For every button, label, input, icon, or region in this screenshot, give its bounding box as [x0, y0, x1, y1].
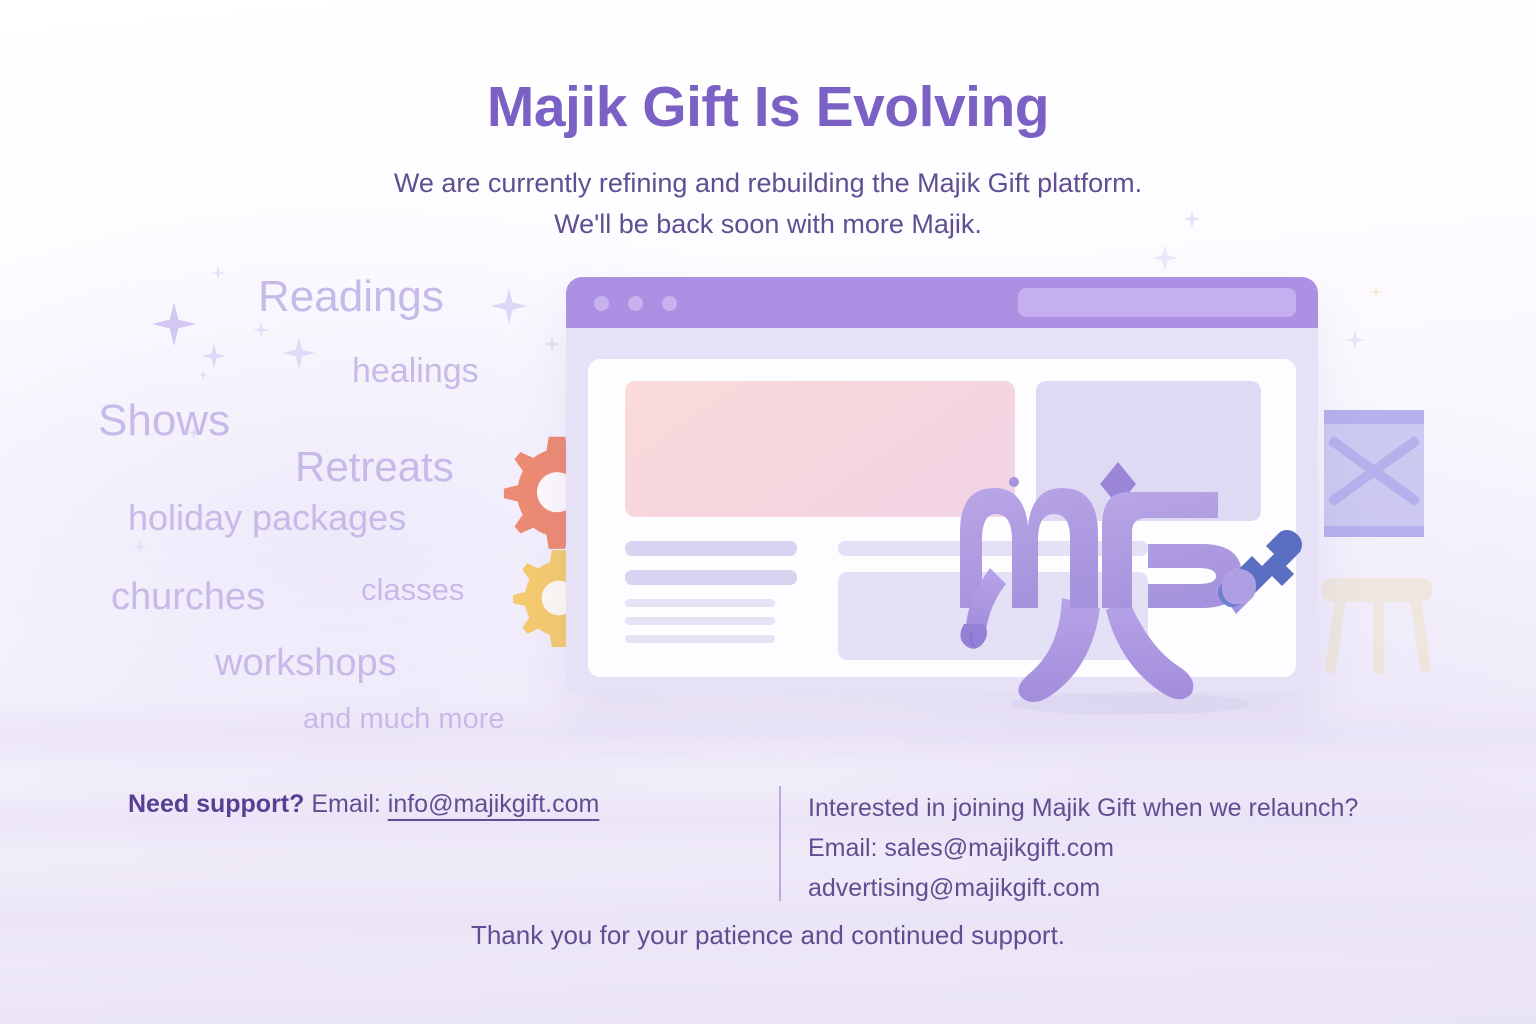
placeholder-text-line — [625, 635, 775, 643]
stool-leg — [1410, 597, 1431, 674]
support-email-link[interactable]: info@majikgift.com — [388, 790, 600, 818]
maintenance-page: Majik Gift Is Evolving We are currently … — [0, 0, 1536, 1024]
browser-titlebar — [566, 277, 1318, 328]
placeholder-bar — [625, 570, 797, 585]
footer-divider — [779, 786, 781, 901]
wooden-stool-icon — [1322, 578, 1432, 672]
advertising-email-line[interactable]: advertising@majikgift.com — [808, 868, 1508, 908]
thank-you-message: Thank you for your patience and continue… — [0, 920, 1536, 951]
envelope-board-icon — [1324, 410, 1424, 537]
mascot-dot — [1009, 477, 1019, 487]
majik-gift-mascot — [950, 448, 1310, 714]
word-churches: churches — [111, 576, 265, 619]
word-healings: healings — [352, 352, 479, 391]
join-question: Interested in joining Majik Gift when we… — [808, 788, 1508, 828]
word-holiday-packages: holiday packages — [128, 497, 406, 539]
word-classes: classes — [361, 572, 464, 608]
sparkle-icon — [1369, 285, 1383, 299]
service-word-cloud: Readings healings Shows Retreats holiday… — [0, 0, 600, 780]
word-readings: Readings — [258, 272, 444, 322]
stool-leg — [1373, 598, 1384, 674]
support-contact-block: Need support? Email: info@majikgift.com — [128, 790, 768, 819]
mascot-leg-back — [1018, 598, 1100, 702]
envelope-top-edge — [1324, 410, 1424, 424]
support-label: Need support? — [128, 790, 304, 818]
envelope-bottom-edge — [1324, 526, 1424, 537]
sparkle-icon — [1345, 330, 1365, 350]
traffic-light-dot-icon — [594, 296, 609, 311]
word-retreats: Retreats — [295, 443, 454, 491]
mascot-leg-front — [1106, 598, 1193, 699]
sparkle-icon — [1152, 245, 1178, 271]
stool-leg — [1324, 597, 1345, 674]
word-and-much-more: and much more — [303, 703, 505, 736]
traffic-light-dot-icon — [628, 296, 643, 311]
join-contact-block: Interested in joining Majik Gift when we… — [808, 788, 1508, 908]
placeholder-text-line — [625, 617, 775, 625]
browser-address-bar — [1018, 288, 1296, 317]
word-shows: Shows — [98, 396, 230, 446]
sales-email-line[interactable]: Email: sales@majikgift.com — [808, 828, 1508, 868]
placeholder-text-line — [625, 599, 775, 607]
support-email-prefix: Email: — [311, 790, 380, 818]
word-workshops: workshops — [215, 642, 397, 685]
traffic-light-dot-icon — [662, 296, 677, 311]
placeholder-bar — [625, 541, 797, 556]
background-band — [0, 960, 1536, 1024]
